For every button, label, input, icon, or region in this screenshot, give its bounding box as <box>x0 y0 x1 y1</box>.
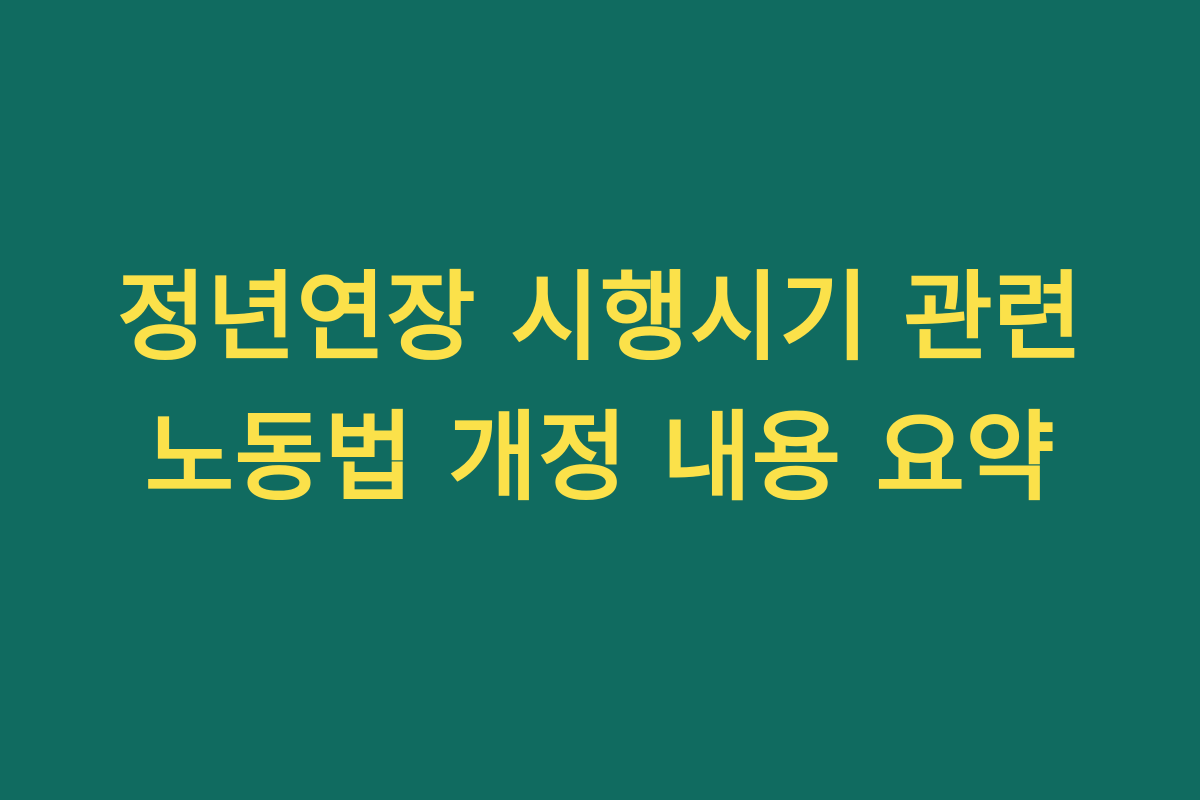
headline-block: 정년연장 시행시기 관련 노동법 개정 내용 요약 <box>50 248 1150 528</box>
headline-line-2: 노동법 개정 내용 요약 <box>50 388 1150 528</box>
title-card: 정년연장 시행시기 관련 노동법 개정 내용 요약 <box>0 0 1200 800</box>
headline-line-1: 정년연장 시행시기 관련 <box>50 248 1150 388</box>
